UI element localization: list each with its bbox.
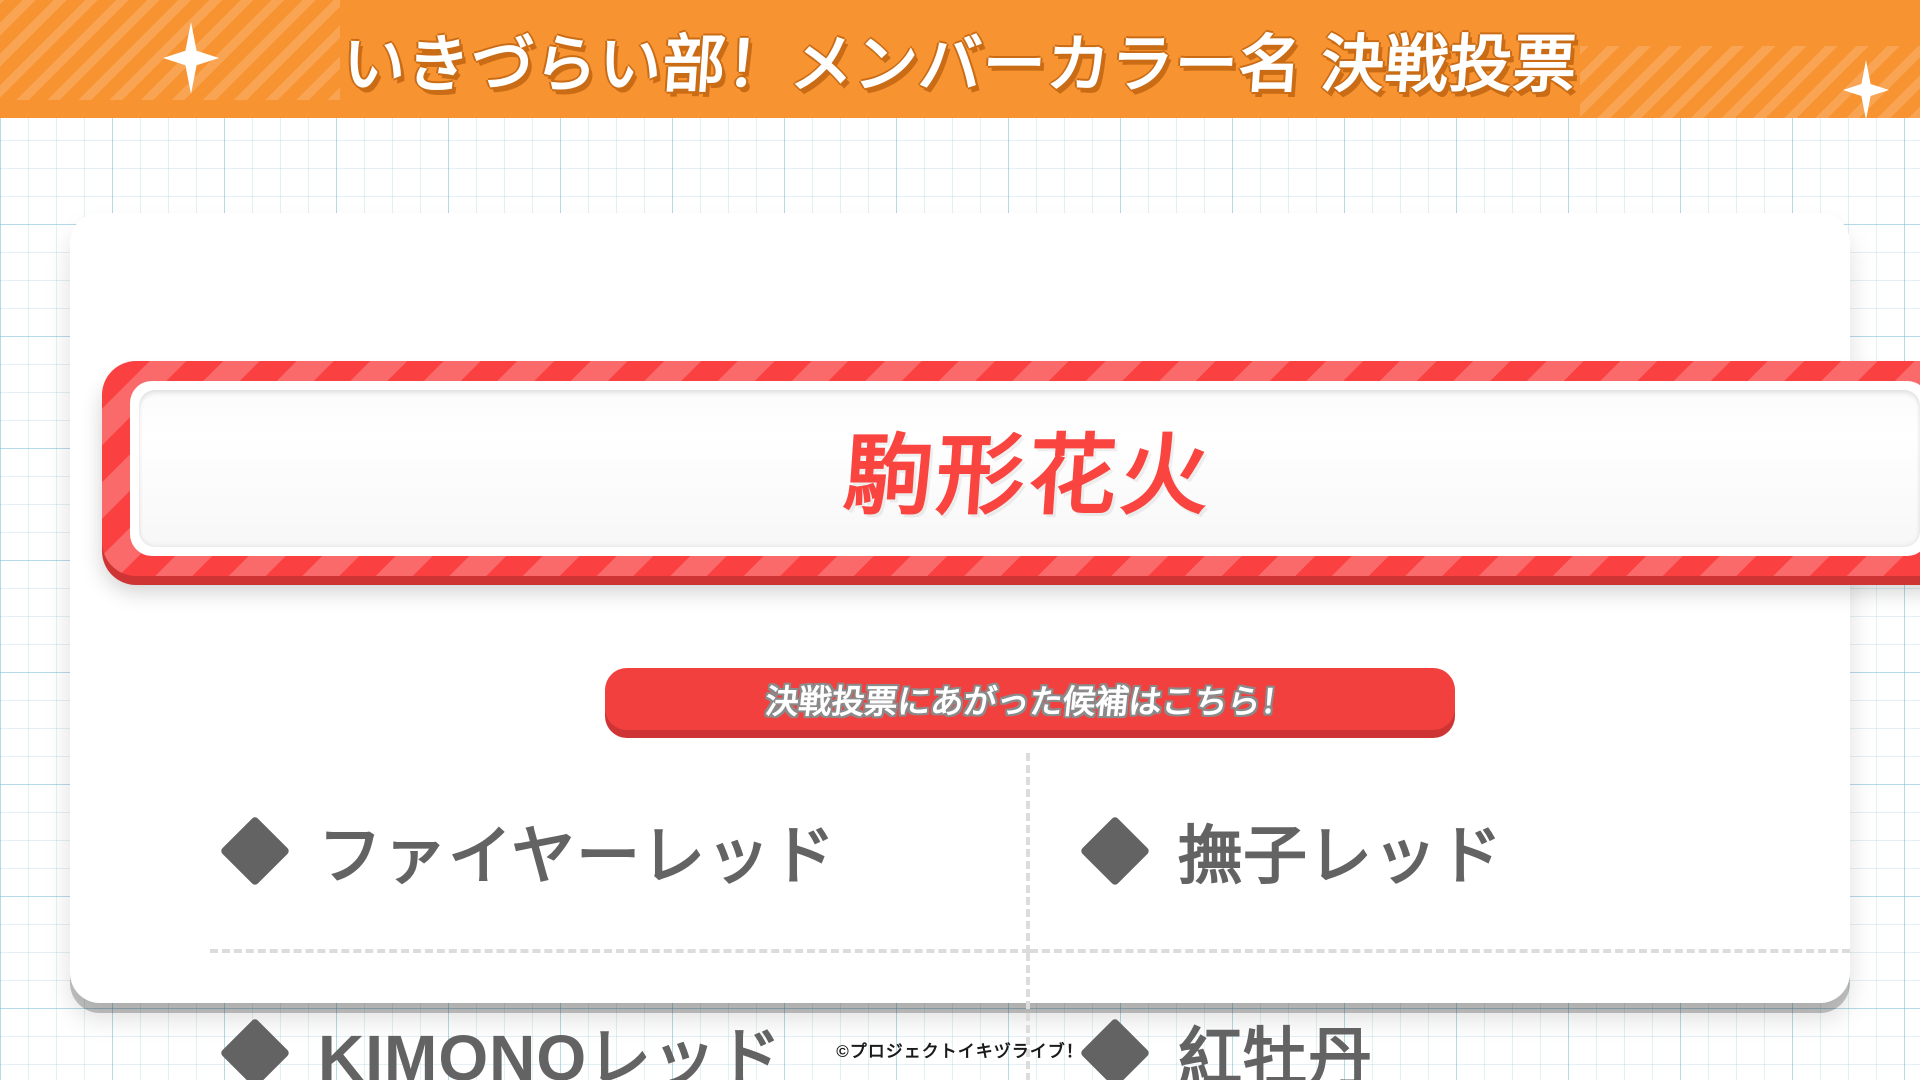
candidate-label: 撫子レッド — [1178, 805, 1503, 897]
main-content-card: 駒形花火 決戦投票にあがった候補はこちら！ ファイヤーレッド 撫子レッド KIM… — [70, 213, 1850, 1003]
diamond-icon — [220, 816, 291, 887]
header-stripes-left-decoration — [0, 0, 340, 100]
candidate-option-2[interactable]: 撫子レッド — [1030, 753, 1850, 953]
candidates-ribbon-label: 決戦投票にあがった候補はこちら！ — [605, 668, 1455, 730]
copyright-footer: ©プロジェクトイキヅライブ！ — [0, 1037, 1920, 1062]
name-card-inner-panel: 駒形花火 — [139, 390, 1920, 547]
candidate-grid: ファイヤーレッド 撫子レッド KIMONOレッド 紅牡丹 — [210, 753, 1850, 1080]
sparkle-icon — [163, 22, 219, 94]
name-card-ring: 駒形花火 — [130, 381, 1920, 556]
member-name: 駒形花火 — [841, 405, 1218, 532]
candidate-label: ファイヤーレッド — [318, 805, 836, 897]
sparkle-icon — [1843, 60, 1889, 118]
page-title: いきづらい部！メンバーカラー名 決戦投票 — [340, 14, 1581, 105]
ribbon-text: 決戦投票にあがった候補はこちら！ — [763, 675, 1296, 723]
candidate-option-1[interactable]: ファイヤーレッド — [210, 753, 1030, 953]
member-name-card: 駒形花火 — [102, 361, 1920, 576]
page-header: いきづらい部！メンバーカラー名 決戦投票 — [0, 0, 1920, 118]
diamond-icon — [1080, 816, 1151, 887]
